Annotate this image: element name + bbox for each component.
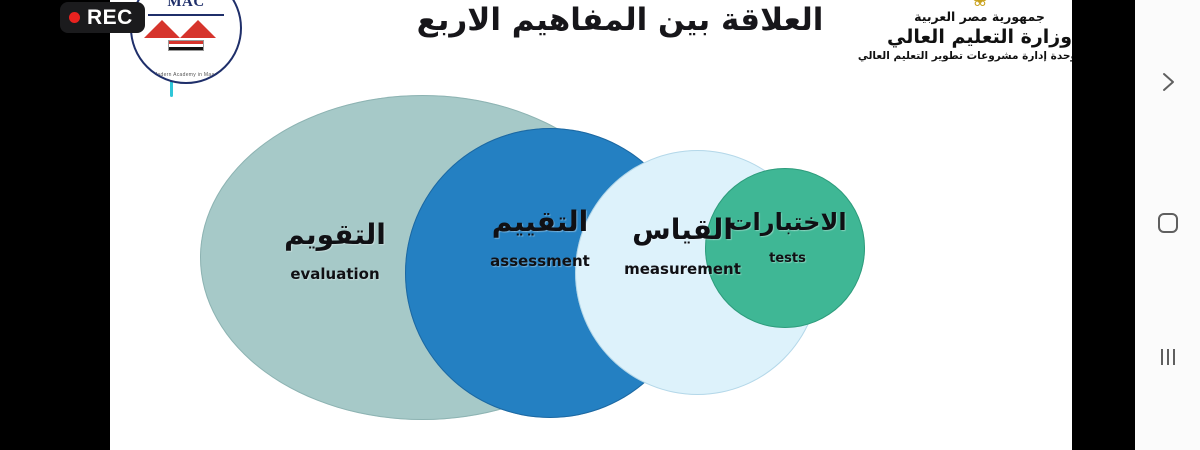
letterbox-bar-left [0,0,110,450]
venn-label-evaluation-ar: التقويم [235,218,435,252]
mac-logo: MAC Modern Academy in Maadi [130,0,242,84]
venn-label-evaluation: التقويم evaluation [235,218,435,284]
mac-logo-arc-text: Modern Academy in Maadi [132,72,240,78]
ministry-logo: ❀ جمهورية مصر العربية وزارة التعليم العا… [882,0,1072,63]
letterbox-bar-right [1072,0,1135,450]
record-badge-label: REC [87,7,133,28]
record-dot-icon [69,12,80,23]
ministry-line-1: جمهورية مصر العربية [882,8,1072,25]
back-button[interactable] [1135,59,1200,105]
venn-label-tests-en: tests [715,249,860,269]
mac-mountain-right-icon [180,20,216,38]
recents-icon [1156,346,1180,368]
mac-logo-text: MAC [132,0,240,11]
home-icon [1156,211,1180,235]
venn-label-tests-ar: الاختبارات [715,205,860,239]
venn-label-evaluation-en: evaluation [235,264,435,284]
home-button[interactable] [1135,200,1200,246]
recents-button[interactable] [1135,334,1200,380]
presentation-slide: العلاقة بين المفاهيم الاربع ❀ جمهورية مص… [110,0,1072,450]
status-badge: REC [60,2,145,33]
ministry-line-2: وزارة التعليم العالي [882,25,1072,49]
venn-label-tests: الاختبارات tests [715,205,860,269]
mac-logo-rule [148,14,224,16]
page-title: العلاقة بين المفاهيم الاربع [410,2,830,38]
device-screen: العلاقة بين المفاهيم الاربع ❀ جمهورية مص… [0,0,1200,450]
egypt-flag-icon [168,40,204,51]
crown-icon: ❀ [882,0,1072,8]
navigation-rail [1135,0,1200,450]
ministry-line-3: وحدة إدارة مشروعات تطوير التعليم العالي [882,49,1072,63]
back-icon [1158,67,1178,97]
mac-mountain-left-icon [144,20,180,38]
